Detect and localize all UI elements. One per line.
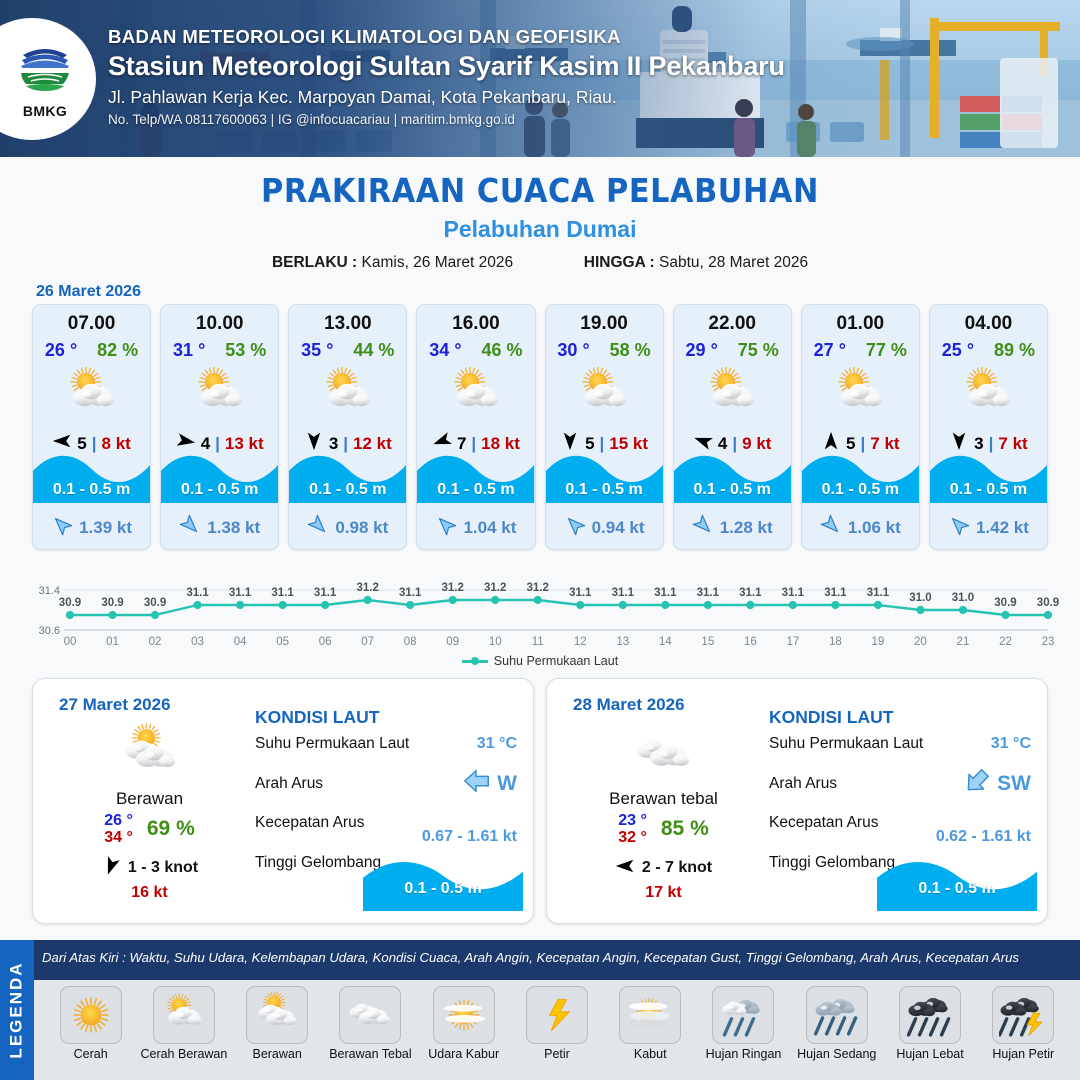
weather-icon-cerah-berawan [161,363,278,425]
legend-icon-hujan-sedang [806,986,868,1044]
svg-text:30.9: 30.9 [101,597,123,609]
legend-item-label: Berawan Tebal [324,1047,417,1061]
current-speed-value: 1.39 kt [79,518,132,538]
svg-text:31.1: 31.1 [612,587,635,599]
svg-text:31.2: 31.2 [527,582,549,594]
hourly-card[interactable]: 07.00 26 ° 82 % [32,304,151,550]
svg-text:31.1: 31.1 [186,587,209,599]
legend-item-label: Hujan Petir [977,1047,1070,1061]
daily-gust: 16 kt [47,884,252,902]
svg-text:31.1: 31.1 [569,587,592,599]
legend-item-label: Hujan Ringan [697,1047,790,1061]
card-temp-hum-row: 26 ° 82 % [33,340,150,361]
svg-text:13: 13 [616,636,629,648]
svg-text:02: 02 [149,636,162,648]
daily-wind-row: 1 - 3 knot [47,856,252,881]
svg-text:31.1: 31.1 [229,587,252,599]
daily-wave-value: 0.1 - 0.5 m [877,880,1037,898]
hourly-forecast-row: 07.00 26 ° 82 % [0,304,1080,550]
legend-icon-petir [526,986,588,1044]
weather-icon-cerah-berawan [802,363,919,425]
card-humidity: 44 % [353,340,394,361]
valid-from-label: BERLAKU : [272,254,357,271]
card-current-row: 0.94 kt [546,514,663,541]
card-humidity: 46 % [482,340,523,361]
legend-icon-hujan-lebat [899,986,961,1044]
card-humidity: 75 % [738,340,779,361]
svg-text:11: 11 [532,636,544,648]
current-speed-value: 0.98 kt [335,518,388,538]
legend-side-label: LEGENDA [7,961,27,1058]
card-current-row: 1.39 kt [33,514,150,541]
legend-item: Hujan Sedang [790,986,883,1061]
card-temperature: 30 ° [557,340,589,361]
sst-value: 31 °C [991,735,1031,753]
legend-icon-berawan-tebal [339,986,401,1044]
legend-icon-hujan-ringan [712,986,774,1044]
hourly-card[interactable]: 22.00 29 ° 75 % [673,304,792,550]
svg-text:31.0: 31.0 [909,592,931,604]
validity-row: BERLAKU : Kamis, 26 Maret 2026 HINGGA : … [0,254,1080,272]
card-time: 04.00 [930,305,1047,335]
current-speed-label: Kecepatan Arus [769,814,878,832]
card-humidity: 82 % [97,340,138,361]
svg-text:01: 01 [106,636,119,648]
weather-icon-cerah-berawan [546,363,663,425]
card-temperature: 35 ° [301,340,333,361]
svg-text:05: 05 [276,636,289,648]
legend-icon-cerah [60,986,122,1044]
current-direction-row: Arah Arus W [255,766,517,801]
legend-item: Petir [510,986,603,1061]
legend-icon-cerah-berawan [153,986,215,1044]
card-temperature: 31 ° [173,340,205,361]
legend-icon-hujan-petir [992,986,1054,1044]
weather-icon-berawan-tebal [561,723,766,785]
legend-item-label: Cerah Berawan [137,1047,230,1061]
svg-text:31.1: 31.1 [867,587,890,599]
current-direction-arrow-icon [692,514,714,541]
legend-item-label: Petir [510,1047,603,1061]
wave-height-value: 0.1 - 0.5 m [33,481,150,499]
svg-text:04: 04 [234,636,247,648]
sea-condition-title: KONDISI LAUT [255,707,517,728]
weather-icon-cerah-berawan [930,363,1047,425]
page-subtitle: Pelabuhan Dumai [0,216,1080,243]
legend-icon-udara-kabur [433,986,495,1044]
legend-item: Cerah [44,986,137,1061]
daily-wind-row: 2 - 7 knot [561,856,766,881]
legend-item-label: Hujan Sedang [790,1047,883,1061]
daily-date: 28 Maret 2026 [573,695,685,715]
legend-item: Berawan Tebal [324,986,417,1061]
card-time: 19.00 [546,305,663,335]
legend-item: Kabut [604,986,697,1061]
legend-item: Cerah Berawan [137,986,230,1061]
daily-temp-min: 26 ° [104,812,133,829]
svg-text:12: 12 [574,636,587,648]
daily-summary: Berawan tebal 23 ° 32 ° 85 % 2 - 7 knot … [561,723,766,902]
svg-text:14: 14 [659,636,672,648]
daily-temp-hum-row: 23 ° 32 ° 85 % [561,812,766,847]
sst-chart-plot: 31.430.630.90030.90130.90231.10331.10431… [18,564,1062,652]
daily-forecast-card[interactable]: 28 Maret 2026 [546,678,1048,924]
card-humidity: 53 % [225,340,266,361]
svg-text:31.1: 31.1 [824,587,847,599]
current-direction-label: Arah Arus [255,775,323,793]
svg-text:03: 03 [191,636,204,648]
legend-item: Udara Kabur [417,986,510,1061]
daily-forecast-row: 27 Maret 2026 [0,672,1080,924]
valid-until-value: Sabtu, 28 Maret 2026 [659,254,808,271]
legend-item: Hujan Petir [977,986,1070,1061]
current-speed-value: 1.04 kt [463,518,516,538]
svg-text:23: 23 [1042,636,1055,648]
sst-row: Suhu Permukaan Laut 31 °C [255,735,517,753]
daily-condition: Berawan [47,789,252,809]
current-direction-label: Arah Arus [769,775,837,793]
daily-temp-min: 23 ° [618,812,647,829]
svg-text:31.0: 31.0 [952,592,974,604]
wave-height-value: 0.1 - 0.5 m [289,481,406,499]
current-direction-arrow-icon [179,514,201,541]
svg-text:10: 10 [489,636,502,648]
chart-legend-label: Suhu Permukaan Laut [494,654,618,668]
hourly-card[interactable]: 04.00 25 ° 89 % [929,304,1048,550]
current-speed-value: 1.38 kt [207,518,260,538]
svg-text:19: 19 [872,636,885,648]
card-temperature: 25 ° [942,340,974,361]
sst-row: Suhu Permukaan Laut 31 °C [769,735,1031,753]
legend-item-label: Cerah [44,1047,137,1061]
svg-text:31.2: 31.2 [484,582,506,594]
weather-icon-cerah-berawan [417,363,534,425]
svg-text:22: 22 [999,636,1012,648]
svg-text:18: 18 [829,636,842,648]
legend-item-label: Berawan [231,1047,324,1061]
card-time: 22.00 [674,305,791,335]
daily-humidity: 69 % [147,817,195,841]
svg-text:06: 06 [319,636,332,648]
card-humidity: 77 % [866,340,907,361]
weather-icon-cerah-berawan [289,363,406,425]
svg-text:31.1: 31.1 [314,587,337,599]
card-time: 10.00 [161,305,278,335]
current-direction-row: Arah Arus SW [769,766,1031,801]
wave-height-value: 0.1 - 0.5 m [802,481,919,499]
current-direction-value: W [497,772,517,796]
chart-legend: Suhu Permukaan Laut [18,654,1062,668]
station-address: Jl. Pahlawan Kerja Kec. Marpoyan Damai, … [108,87,785,108]
hourly-card[interactable]: 16.00 34 ° 46 % [416,304,535,550]
svg-text:30.9: 30.9 [59,597,81,609]
card-temperature: 34 ° [429,340,461,361]
daily-temp-hum-row: 26 ° 34 ° 69 % [47,812,252,847]
daily-temp-max: 32 ° [618,829,647,846]
card-time: 16.00 [417,305,534,335]
legend-item: Hujan Lebat [883,986,976,1061]
daily-wind-range: 2 - 7 knot [642,859,712,877]
wind-direction-arrow-icon [101,856,121,881]
legend-footer: LEGENDA Dari Atas Kiri : Waktu, Suhu Uda… [0,940,1080,1080]
current-speed-value: 1.28 kt [720,518,773,538]
svg-text:31.2: 31.2 [356,582,378,594]
bmkg-logo-mark [14,39,76,97]
card-temperature: 27 ° [814,340,846,361]
current-direction-arrow-icon [462,766,492,801]
svg-text:31.1: 31.1 [697,587,720,599]
card-temperature: 26 ° [45,340,77,361]
svg-text:31.1: 31.1 [739,587,762,599]
sst-label: Suhu Permukaan Laut [769,735,923,753]
card-time: 13.00 [289,305,406,335]
current-direction-arrow-icon [564,514,586,541]
header-text-block: BADAN METEOROLOGI KLIMATOLOGI DAN GEOFIS… [108,26,785,127]
legend-icon-berawan [246,986,308,1044]
svg-text:31.4: 31.4 [39,585,60,597]
hourly-card[interactable]: 19.00 30 ° 58 % [545,304,664,550]
card-time: 07.00 [33,305,150,335]
svg-text:31.1: 31.1 [399,587,422,599]
daily-summary: Berawan 26 ° 34 ° 69 % 1 - 3 knot 16 kt [47,723,252,902]
hourly-card[interactable]: 13.00 35 ° 44 % [288,304,407,550]
wind-direction-arrow-icon [615,856,635,881]
current-direction-arrow-icon [51,514,73,541]
svg-text:16: 16 [744,636,757,648]
wave-height-value: 0.1 - 0.5 m [930,481,1047,499]
card-temp-hum-row: 31 ° 53 % [161,340,278,361]
card-temp-hum-row: 35 ° 44 % [289,340,406,361]
current-speed-value: 1.42 kt [976,518,1029,538]
svg-text:30.6: 30.6 [39,625,60,637]
daily-wind-range: 1 - 3 knot [128,859,198,877]
station-name: Stasiun Meteorologi Sultan Syarif Kasim … [108,51,785,82]
card-current-row: 0.98 kt [289,514,406,541]
card-temp-hum-row: 25 ° 89 % [930,340,1047,361]
svg-text:31.1: 31.1 [782,587,805,599]
wave-height-value: 0.1 - 0.5 m [417,481,534,499]
hourly-card[interactable]: 01.00 27 ° 77 % [801,304,920,550]
card-current-row: 1.42 kt [930,514,1047,541]
card-temperature: 29 ° [686,340,718,361]
svg-text:15: 15 [701,636,714,648]
wave-height-value: 0.1 - 0.5 m [674,481,791,499]
svg-text:31.1: 31.1 [271,587,294,599]
card-temp-hum-row: 29 ° 75 % [674,340,791,361]
weather-icon-cerah-berawan [33,363,150,425]
svg-text:21: 21 [957,636,970,648]
card-humidity: 58 % [610,340,651,361]
valid-until-label: HINGGA : [584,254,655,271]
svg-text:20: 20 [914,636,927,648]
page-header: BMKG BADAN METEOROLOGI KLIMATOLOGI DAN G… [0,0,1080,157]
sst-chart: 31.430.630.90030.90130.90231.10331.10431… [18,564,1062,672]
svg-text:17: 17 [786,636,799,648]
current-direction-arrow-icon [307,514,329,541]
card-current-row: 1.04 kt [417,514,534,541]
current-direction-arrow-icon [435,514,457,541]
daily-humidity: 85 % [661,817,709,841]
legend-icon-kabut [619,986,681,1044]
svg-text:30.9: 30.9 [144,597,166,609]
sea-condition-title: KONDISI LAUT [769,707,1031,728]
sst-value: 31 °C [477,735,517,753]
legend-item-label: Udara Kabur [417,1047,510,1061]
weather-icon-cerah-berawan [674,363,791,425]
svg-text:31.1: 31.1 [654,587,677,599]
legend-note: Dari Atas Kiri : Waktu, Suhu Udara, Kele… [42,950,1072,965]
current-speed-value: 0.94 kt [592,518,645,538]
current-direction-arrow-icon [948,514,970,541]
station-contact: No. Telp/WA 08117600063 | IG @infocuacar… [108,112,785,127]
daily-date: 27 Maret 2026 [59,695,171,715]
title-block: PRAKIRAAN CUACA PELABUHAN Pelabuhan Duma… [0,157,1080,272]
daily-wave-graphic: 0.1 - 0.5 m [363,855,523,911]
weather-icon-berawan [47,723,252,785]
legend-icon-list: Cerah Cerah Berawan [34,980,1080,1080]
current-direction-arrow-icon [820,514,842,541]
svg-text:07: 07 [361,636,374,648]
agency-name: BADAN METEOROLOGI KLIMATOLOGI DAN GEOFIS… [108,26,785,48]
svg-text:31.2: 31.2 [442,582,464,594]
daily-wave-value: 0.1 - 0.5 m [363,880,523,898]
wave-height-value: 0.1 - 0.5 m [161,481,278,499]
card-current-row: 1.06 kt [802,514,919,541]
card-temp-hum-row: 34 ° 46 % [417,340,534,361]
daily-condition: Berawan tebal [561,789,766,809]
svg-text:30.9: 30.9 [994,597,1016,609]
page-title: PRAKIRAAN CUACA PELABUHAN [43,171,1037,210]
legend-side-banner: LEGENDA [0,940,34,1080]
svg-text:00: 00 [64,636,77,648]
card-current-row: 1.28 kt [674,514,791,541]
card-humidity: 89 % [994,340,1035,361]
card-temp-hum-row: 30 ° 58 % [546,340,663,361]
card-temp-hum-row: 27 ° 77 % [802,340,919,361]
current-direction-arrow-icon [962,766,992,801]
daily-temp-max: 34 ° [104,829,133,846]
svg-text:09: 09 [446,636,459,648]
card-time: 01.00 [802,305,919,335]
current-speed-label: Kecepatan Arus [255,814,364,832]
hourly-card[interactable]: 10.00 31 ° 53 % [160,304,279,550]
svg-text:08: 08 [404,636,417,648]
current-speed-value: 1.06 kt [848,518,901,538]
legend-item: Berawan [231,986,324,1061]
current-direction-value: SW [997,772,1031,796]
bmkg-logo-text: BMKG [9,103,81,119]
sst-label: Suhu Permukaan Laut [255,735,409,753]
daily-gust: 17 kt [561,884,766,902]
valid-from-value: Kamis, 26 Maret 2026 [362,254,514,271]
chart-legend-marker-icon [462,656,488,666]
legend-item: Hujan Ringan [697,986,790,1061]
daily-forecast-card[interactable]: 27 Maret 2026 [32,678,534,924]
legend-item-label: Kabut [604,1047,697,1061]
wave-height-value: 0.1 - 0.5 m [546,481,663,499]
card-current-row: 1.38 kt [161,514,278,541]
svg-text:30.9: 30.9 [1037,597,1059,609]
hourly-date-label: 26 Maret 2026 [36,283,1080,301]
daily-wave-graphic: 0.1 - 0.5 m [877,855,1037,911]
legend-item-label: Hujan Lebat [883,1047,976,1061]
